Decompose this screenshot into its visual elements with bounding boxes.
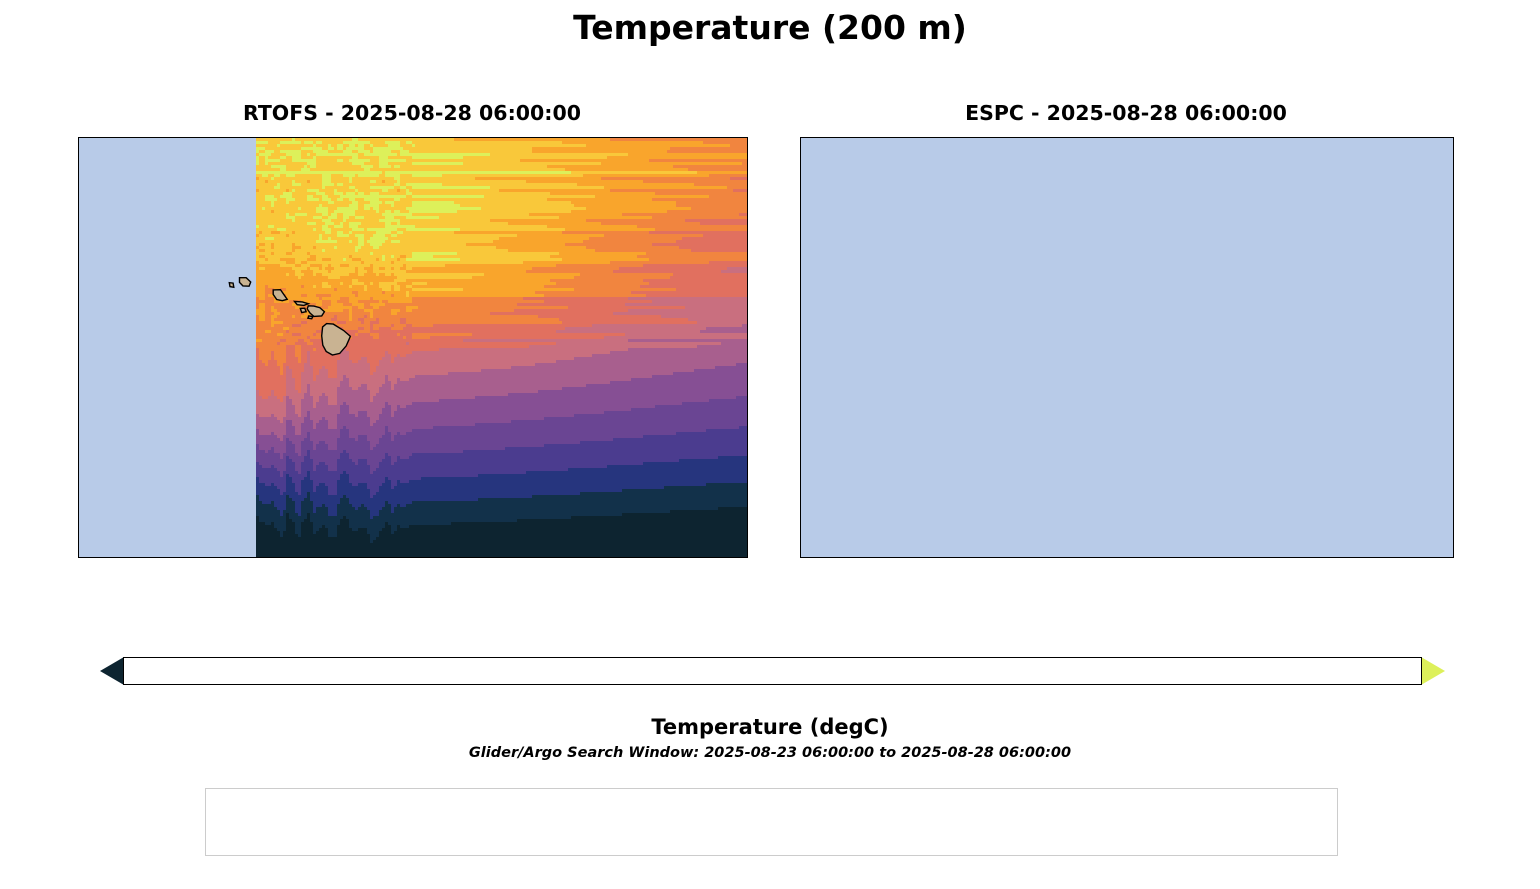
figure-canvas: Temperature (200 m) RTOFS - 2025-08-28 0…	[0, 0, 1540, 889]
colorbar-min-arrow	[100, 657, 124, 685]
colorbar-label: Temperature (degC)	[0, 715, 1540, 739]
rtofs-map-axes[interactable]	[78, 137, 748, 558]
espc-panel-title: ESPC - 2025-08-28 06:00:00	[800, 101, 1452, 125]
rtofs-panel-title: RTOFS - 2025-08-28 06:00:00	[78, 101, 746, 125]
colorbar-max-arrow	[1421, 657, 1445, 685]
colorbar-bands	[123, 657, 1422, 685]
legend-box[interactable]	[205, 788, 1338, 856]
page-title: Temperature (200 m)	[0, 8, 1540, 47]
espc-map-axes[interactable]	[800, 137, 1454, 558]
colorbar	[100, 657, 1445, 685]
search-window-caption: Glider/Argo Search Window: 2025-08-23 06…	[0, 745, 1540, 761]
